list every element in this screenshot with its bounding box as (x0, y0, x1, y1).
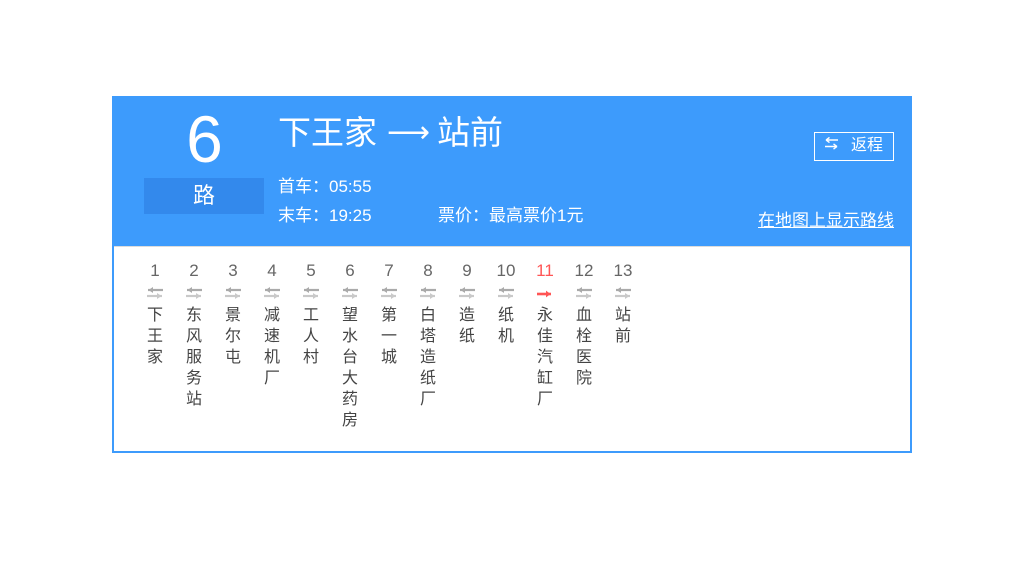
station-name-text: 工人村 (303, 305, 320, 368)
station-name: 造纸 (448, 305, 486, 347)
station-name-text: 站前 (615, 305, 632, 347)
station-item[interactable]: 2东风服务站 (175, 261, 213, 410)
station-number: 8 (409, 261, 447, 281)
bidirectional-arrow-icon (214, 281, 252, 305)
bidirectional-arrow-icon (331, 281, 369, 305)
route-header: 6 路 下王家⟶站前 首车：05:55 末车：19:25票价：最高票价1元 (114, 98, 910, 246)
station-number: 13 (604, 261, 642, 281)
station-name: 工人村 (292, 305, 330, 368)
fare-info: 票价：最高票价1元 (438, 201, 583, 226)
swap-arrows-icon (823, 137, 840, 155)
station-number: 9 (448, 261, 486, 281)
station-name: 白塔造纸厂 (409, 305, 447, 410)
station-name: 站前 (604, 305, 642, 347)
station-name-text: 造纸 (459, 305, 476, 347)
station-item[interactable]: 9造纸 (448, 261, 486, 347)
stations-strip: 1下王家2东风服务站3景尔屯4减速机厂5工人村6望水台大药房7第一城8白塔造纸厂… (136, 261, 910, 431)
station-name-text: 白塔造纸厂 (420, 305, 437, 410)
route-number-badge: 6 路 (144, 108, 264, 214)
station-number: 3 (214, 261, 252, 281)
station-name-text: 东风服务站 (186, 305, 203, 410)
station-number: 11 (526, 261, 564, 281)
station-number: 6 (331, 261, 369, 281)
first-bus-row: 首车：05:55 (278, 172, 894, 197)
station-item[interactable]: 11永佳汽缸厂 (526, 261, 564, 410)
bidirectional-arrow-icon (370, 281, 408, 305)
station-number: 1 (136, 261, 174, 281)
station-name: 永佳汽缸厂 (526, 305, 564, 410)
route-number: 6 (144, 108, 264, 170)
station-name: 血栓医院 (565, 305, 603, 389)
station-item[interactable]: 10纸机 (487, 261, 525, 347)
station-name-text: 下王家 (147, 305, 164, 368)
bidirectional-arrow-icon (565, 281, 603, 305)
route-title: 下王家⟶站前 (278, 110, 894, 158)
station-item[interactable]: 8白塔造纸厂 (409, 261, 447, 410)
page-root: 6 路 下王家⟶站前 首车：05:55 末车：19:25票价：最高票价1元 (0, 0, 1022, 566)
station-name: 下王家 (136, 305, 174, 368)
station-number: 5 (292, 261, 330, 281)
station-name-text: 血栓医院 (576, 305, 593, 389)
station-name-text: 减速机厂 (264, 305, 281, 389)
direction-arrow-icon: ⟶ (387, 110, 427, 156)
station-name: 望水台大药房 (331, 305, 369, 431)
station-name: 第一城 (370, 305, 408, 368)
station-name: 东风服务站 (175, 305, 213, 410)
station-number: 2 (175, 261, 213, 281)
bidirectional-arrow-icon (448, 281, 486, 305)
first-bus-time: 首车：05:55 (278, 172, 438, 197)
station-name: 纸机 (487, 305, 525, 347)
bidirectional-arrow-icon (175, 281, 213, 305)
station-item[interactable]: 3景尔屯 (214, 261, 252, 368)
station-name: 景尔屯 (214, 305, 252, 368)
route-origin: 下王家 (278, 114, 377, 151)
station-number: 10 (487, 261, 525, 281)
station-item[interactable]: 1下王家 (136, 261, 174, 368)
bidirectional-arrow-icon (253, 281, 291, 305)
station-name: 减速机厂 (253, 305, 291, 389)
bus-route-card: 6 路 下王家⟶站前 首车：05:55 末车：19:25票价：最高票价1元 (112, 96, 912, 453)
station-item[interactable]: 6望水台大药房 (331, 261, 369, 431)
show-route-on-map-link[interactable]: 在地图上显示路线 (758, 206, 894, 231)
station-name-text: 第一城 (381, 305, 398, 368)
station-name-text: 望水台大药房 (342, 305, 359, 431)
bidirectional-arrow-icon (487, 281, 525, 305)
bidirectional-arrow-icon (136, 281, 174, 305)
station-number: 12 (565, 261, 603, 281)
station-number: 7 (370, 261, 408, 281)
route-unit-label: 路 (144, 178, 264, 214)
last-bus-time: 末车：19:25 (278, 201, 438, 226)
station-name-text: 纸机 (498, 305, 515, 347)
single-arrow-right-icon (526, 281, 564, 305)
station-item[interactable]: 5工人村 (292, 261, 330, 368)
stations-panel: 1下王家2东风服务站3景尔屯4减速机厂5工人村6望水台大药房7第一城8白塔造纸厂… (114, 246, 910, 451)
return-trip-label: 返程 (851, 137, 883, 154)
station-item[interactable]: 12血栓医院 (565, 261, 603, 389)
bidirectional-arrow-icon (409, 281, 447, 305)
station-item[interactable]: 4减速机厂 (253, 261, 291, 389)
station-item[interactable]: 13站前 (604, 261, 642, 347)
bidirectional-arrow-icon (604, 281, 642, 305)
bidirectional-arrow-icon (292, 281, 330, 305)
station-number: 4 (253, 261, 291, 281)
station-item[interactable]: 7第一城 (370, 261, 408, 368)
station-name-text: 景尔屯 (225, 305, 242, 368)
route-destination: 站前 (437, 114, 503, 151)
return-trip-button[interactable]: 返程 (814, 132, 894, 161)
station-name-text: 永佳汽缸厂 (537, 305, 554, 410)
